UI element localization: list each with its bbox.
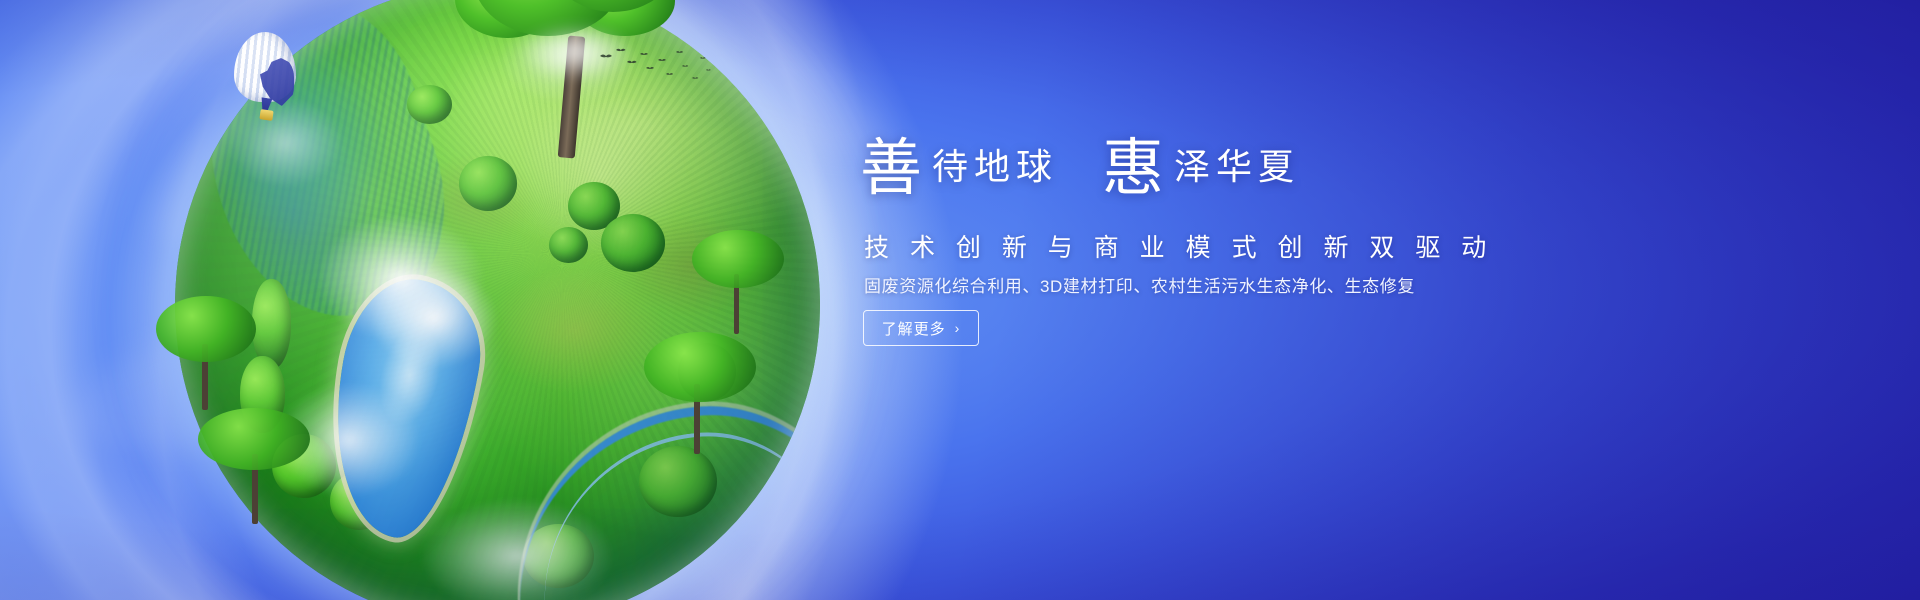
small-tree — [196, 408, 316, 528]
headline-rest-2: 泽华夏 — [1174, 147, 1300, 187]
bush-cluster — [407, 85, 452, 124]
tree-canopy — [198, 408, 310, 470]
banner-content: 善待地球惠泽华夏 技 术 创 新 与 商 业 模 式 创 新 双 驱 动 固废资… — [860, 0, 1560, 600]
headline-rest-1: 待地球 — [932, 147, 1058, 187]
learn-more-label: 了解更多 — [882, 318, 946, 339]
surface-cloud — [369, 266, 498, 369]
bush-cluster — [549, 227, 588, 262]
banner-subtitle: 技 术 创 新 与 商 业 模 式 创 新 双 驱 动 — [864, 228, 1493, 264]
hot-air-balloon-icon — [234, 32, 296, 124]
learn-more-button[interactable]: 了解更多 › — [863, 310, 979, 346]
bird-flock-icon — [596, 46, 716, 90]
small-tree — [150, 292, 260, 412]
tree-canopy — [156, 296, 256, 362]
tree-canopy — [692, 230, 784, 288]
small-tree — [690, 230, 786, 340]
bush-cluster — [601, 214, 666, 272]
hero-banner: 善待地球惠泽华夏 技 术 创 新 与 商 业 模 式 创 新 双 驱 动 固废资… — [0, 0, 1920, 600]
tree-canopy — [644, 332, 756, 402]
page-title: 善待地球惠泽华夏 — [860, 138, 1300, 200]
small-tree — [640, 330, 760, 460]
headline-char-2: 惠 — [1102, 135, 1164, 203]
banner-description: 固废资源化综合利用、3D建材打印、农村生活污水生态净化、生态修复 — [864, 272, 1415, 297]
headline-char-1: 善 — [860, 135, 922, 203]
chevron-right-icon: › — [955, 321, 961, 335]
balloon-basket — [259, 109, 273, 121]
bush-cluster — [459, 156, 517, 211]
